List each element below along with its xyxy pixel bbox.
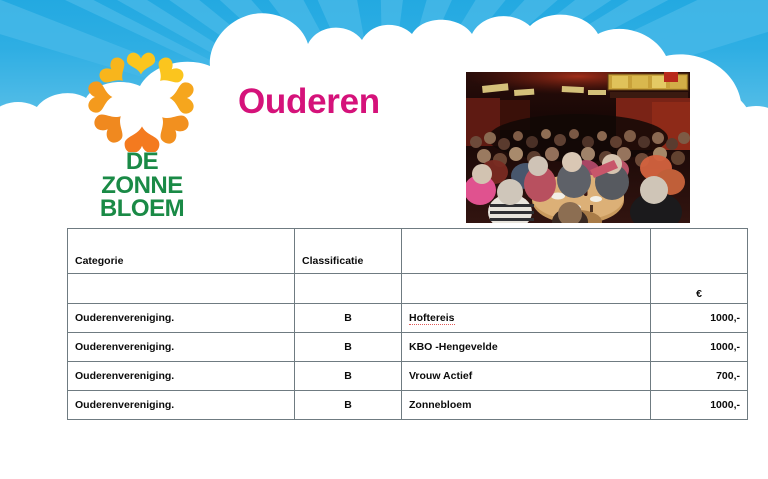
logo-line-de: DE <box>78 150 206 174</box>
header-bedrag <box>651 229 748 274</box>
cell-bedrag: 1000,- <box>651 304 748 333</box>
de-zonnebloem-logo: DE ZONNE BLOEM <box>78 52 206 218</box>
cell-omschrijving: Vrouw Actief <box>402 362 651 391</box>
slide-title: Ouderen <box>238 82 380 122</box>
sunflower-hearts-icon <box>78 52 206 152</box>
table-row: Ouderenvereniging. B Hoftereis 1000,- <box>68 304 748 333</box>
cell-classificatie: B <box>295 304 402 333</box>
header2-classificatie <box>295 274 402 304</box>
table-row: Ouderenvereniging. B KBO -Hengevelde 100… <box>68 333 748 362</box>
cell-bedrag: 1000,- <box>651 333 748 362</box>
grants-table-container: Categorie Classificatie € Ouderenverenig… <box>67 228 689 420</box>
photo-content <box>466 72 690 223</box>
table-row: Ouderenvereniging. B Vrouw Actief 700,- <box>68 362 748 391</box>
cell-omschrijving: Hoftereis <box>402 304 651 333</box>
cell-omschrijving: Zonnebloem <box>402 391 651 420</box>
cell-categorie: Ouderenvereniging. <box>68 362 295 391</box>
header-classificatie: Classificatie <box>295 229 402 274</box>
presentation-slide: DE ZONNE BLOEM Ouderen <box>0 0 768 479</box>
grants-table: Categorie Classificatie € Ouderenverenig… <box>67 228 748 420</box>
table-header-row-2: € <box>68 274 748 304</box>
cell-bedrag: 700,- <box>651 362 748 391</box>
table-row: Ouderenvereniging. B Zonnebloem 1000,- <box>68 391 748 420</box>
cell-classificatie: B <box>295 333 402 362</box>
logo-line-zonne: ZONNE <box>78 174 206 198</box>
cell-bedrag: 1000,- <box>651 391 748 420</box>
cell-categorie: Ouderenvereniging. <box>68 333 295 362</box>
header2-euro-symbol: € <box>651 274 748 304</box>
header2-omschrijving <box>402 274 651 304</box>
cell-categorie: Ouderenvereniging. <box>68 304 295 333</box>
cell-categorie: Ouderenvereniging. <box>68 391 295 420</box>
header-omschrijving <box>402 229 651 274</box>
header-categorie: Categorie <box>68 229 295 274</box>
cell-omschrijving: KBO -Hengevelde <box>402 333 651 362</box>
cell-omschrijving-text: Hoftereis <box>409 312 455 325</box>
logo-wordmark: DE ZONNE BLOEM <box>78 150 206 221</box>
cell-classificatie: B <box>295 391 402 420</box>
cell-classificatie: B <box>295 362 402 391</box>
header2-categorie <box>68 274 295 304</box>
event-hall-photo <box>466 72 690 223</box>
logo-line-bloem: BLOEM <box>78 197 206 221</box>
table-header-row-1: Categorie Classificatie <box>68 229 748 274</box>
